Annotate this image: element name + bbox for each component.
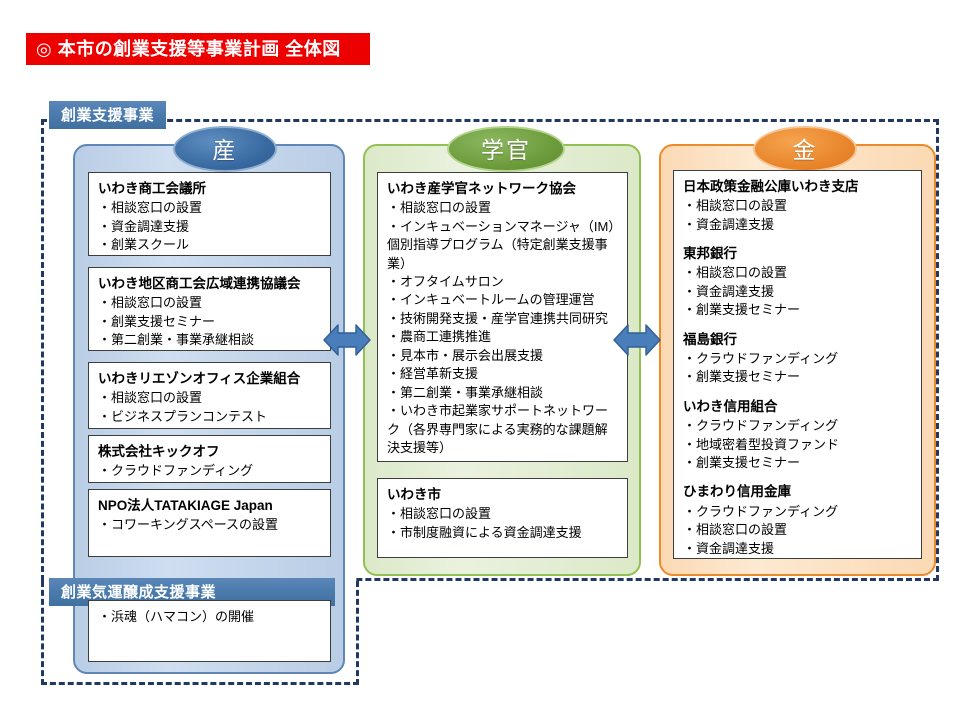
group-spacer — [683, 472, 913, 483]
org-title: いわき信用組合 — [683, 398, 913, 416]
org-bullet: ・創業支援セミナー — [98, 313, 322, 331]
org-bullet: ・相談窓口の設置 — [98, 294, 322, 312]
org-title: NPO法人TATAKIAGE Japan — [98, 497, 322, 515]
header-badge-academic-gov: 学官 — [447, 126, 565, 172]
org-bullet: ・相談窓口の設置 — [387, 199, 619, 217]
org-title: ひまわり信用金庫 — [683, 483, 913, 501]
org-bullet: ・資金調達支援 — [98, 218, 322, 236]
header-badge-industry: 産 — [173, 126, 277, 172]
org-bullet: ・コワーキングスペースの設置 — [98, 516, 322, 534]
org-bullet: ・クラウドファンディング — [683, 350, 913, 368]
org-bullet: ・市制度融資による資金調達支援 — [387, 524, 619, 542]
org-box-iwaki-chamber-of-commerce: いわき商工会議所 ・相談窓口の設置 ・資金調達支援 ・創業スクール — [88, 172, 331, 256]
org-bullet: ・経営革新支援 — [387, 365, 619, 383]
header-badge-finance: 金 — [753, 126, 857, 172]
org-bullet: ・地域密着型投資ファンド — [683, 436, 913, 454]
org-bullet: ・創業スクール — [98, 236, 322, 254]
org-bullet: ・農商工連携推進 — [387, 328, 619, 346]
org-bullet: ・オフタイムサロン — [387, 273, 619, 291]
group-spacer — [683, 320, 913, 331]
org-title: 東邦銀行 — [683, 245, 913, 263]
org-bullet: ・第二創業・事業承継相談 — [387, 384, 619, 402]
org-bullet: ・相談窓口の設置 — [683, 521, 913, 539]
org-bullet: ・いわき市起業家サポートネットワーク（各界専門家による実務的な課題解決支援等） — [387, 402, 619, 457]
org-bullet: ・創業支援セミナー — [683, 454, 913, 472]
double-arrow-icon-industry-academic — [323, 317, 371, 363]
org-bullet: ・ビジネスプランコンテスト — [98, 408, 322, 426]
org-box-momentum-event: ・浜魂（ハマコン）の開催 — [88, 600, 331, 662]
group-spacer — [683, 234, 913, 245]
org-bullet: ・インキュベーションマネージャ（IM）個別指導プログラム（特定創業支援事業） — [387, 218, 619, 273]
org-box-npo-tatakiage-japan: NPO法人TATAKIAGE Japan ・コワーキングスペースの設置 — [88, 489, 331, 557]
page-title: ◎ 本市の創業支援等事業計画 全体図 — [26, 33, 370, 65]
org-bullet: ・相談窓口の設置 — [683, 264, 913, 282]
group-spacer — [683, 387, 913, 398]
org-bullet: ・見本市・展示会出展支援 — [387, 347, 619, 365]
diagram-canvas: ◎ 本市の創業支援等事業計画 全体図 創業支援事業 産 学官 金 いわき商工会議… — [0, 0, 960, 720]
org-bullet: ・浜魂（ハマコン）の開催 — [98, 608, 322, 626]
org-box-kickoff-inc: 株式会社キックオフ ・クラウドファンディング — [88, 435, 331, 483]
org-bullet: ・クラウドファンディング — [98, 462, 322, 480]
org-title: いわき地区商工会広域連携協議会 — [98, 275, 322, 293]
org-title: いわき商工会議所 — [98, 180, 322, 198]
section-label-support: 創業支援事業 — [49, 101, 166, 129]
org-bullet: ・創業支援セミナー — [683, 368, 913, 386]
org-bullet: ・相談窓口の設置 — [387, 505, 619, 523]
org-bullet: ・資金調達支援 — [683, 283, 913, 301]
org-box-iwaki-district-commerce-council: いわき地区商工会広域連携協議会 ・相談窓口の設置 ・創業支援セミナー ・第二創業… — [88, 267, 331, 351]
org-bullet: ・相談窓口の設置 — [98, 199, 322, 217]
org-box-iwaki-liaison-office-cooperative: いわきリエゾンオフィス企業組合 ・相談窓口の設置 ・ビジネスプランコンテスト — [88, 362, 331, 429]
org-title: 株式会社キックオフ — [98, 443, 322, 461]
org-title: 日本政策金融公庫いわき支店 — [683, 178, 913, 196]
org-box-iwaki-industry-academia-government-network: いわき産学官ネットワーク協会 ・相談窓口の設置 ・インキュベーションマネージャ（… — [377, 172, 628, 462]
org-box-financial-institutions: 日本政策金融公庫いわき支店 ・相談窓口の設置 ・資金調達支援 東邦銀行 ・相談窓… — [673, 170, 922, 559]
org-box-iwaki-city: いわき市 ・相談窓口の設置 ・市制度融資による資金調達支援 — [377, 478, 628, 558]
org-bullet: ・技術開発支援・産学官連携共同研究 — [387, 310, 619, 328]
double-arrow-icon-academic-finance — [613, 317, 661, 363]
org-title: いわき産学官ネットワーク協会 — [387, 180, 619, 198]
org-bullet: ・資金調達支援 — [683, 540, 913, 558]
org-bullet: ・相談窓口の設置 — [98, 389, 322, 407]
org-title: いわき市 — [387, 486, 619, 504]
org-title: 福島銀行 — [683, 331, 913, 349]
org-bullet: ・創業支援セミナー — [683, 301, 913, 319]
org-bullet: ・第二創業・事業承継相談 — [98, 331, 322, 349]
org-bullet: ・資金調達支援 — [683, 216, 913, 234]
org-bullet: ・クラウドファンディング — [683, 503, 913, 521]
org-title: いわきリエゾンオフィス企業組合 — [98, 370, 322, 388]
org-bullet: ・クラウドファンディング — [683, 417, 913, 435]
org-bullet: ・インキュベートルームの管理運営 — [387, 291, 619, 309]
org-bullet: ・相談窓口の設置 — [683, 197, 913, 215]
